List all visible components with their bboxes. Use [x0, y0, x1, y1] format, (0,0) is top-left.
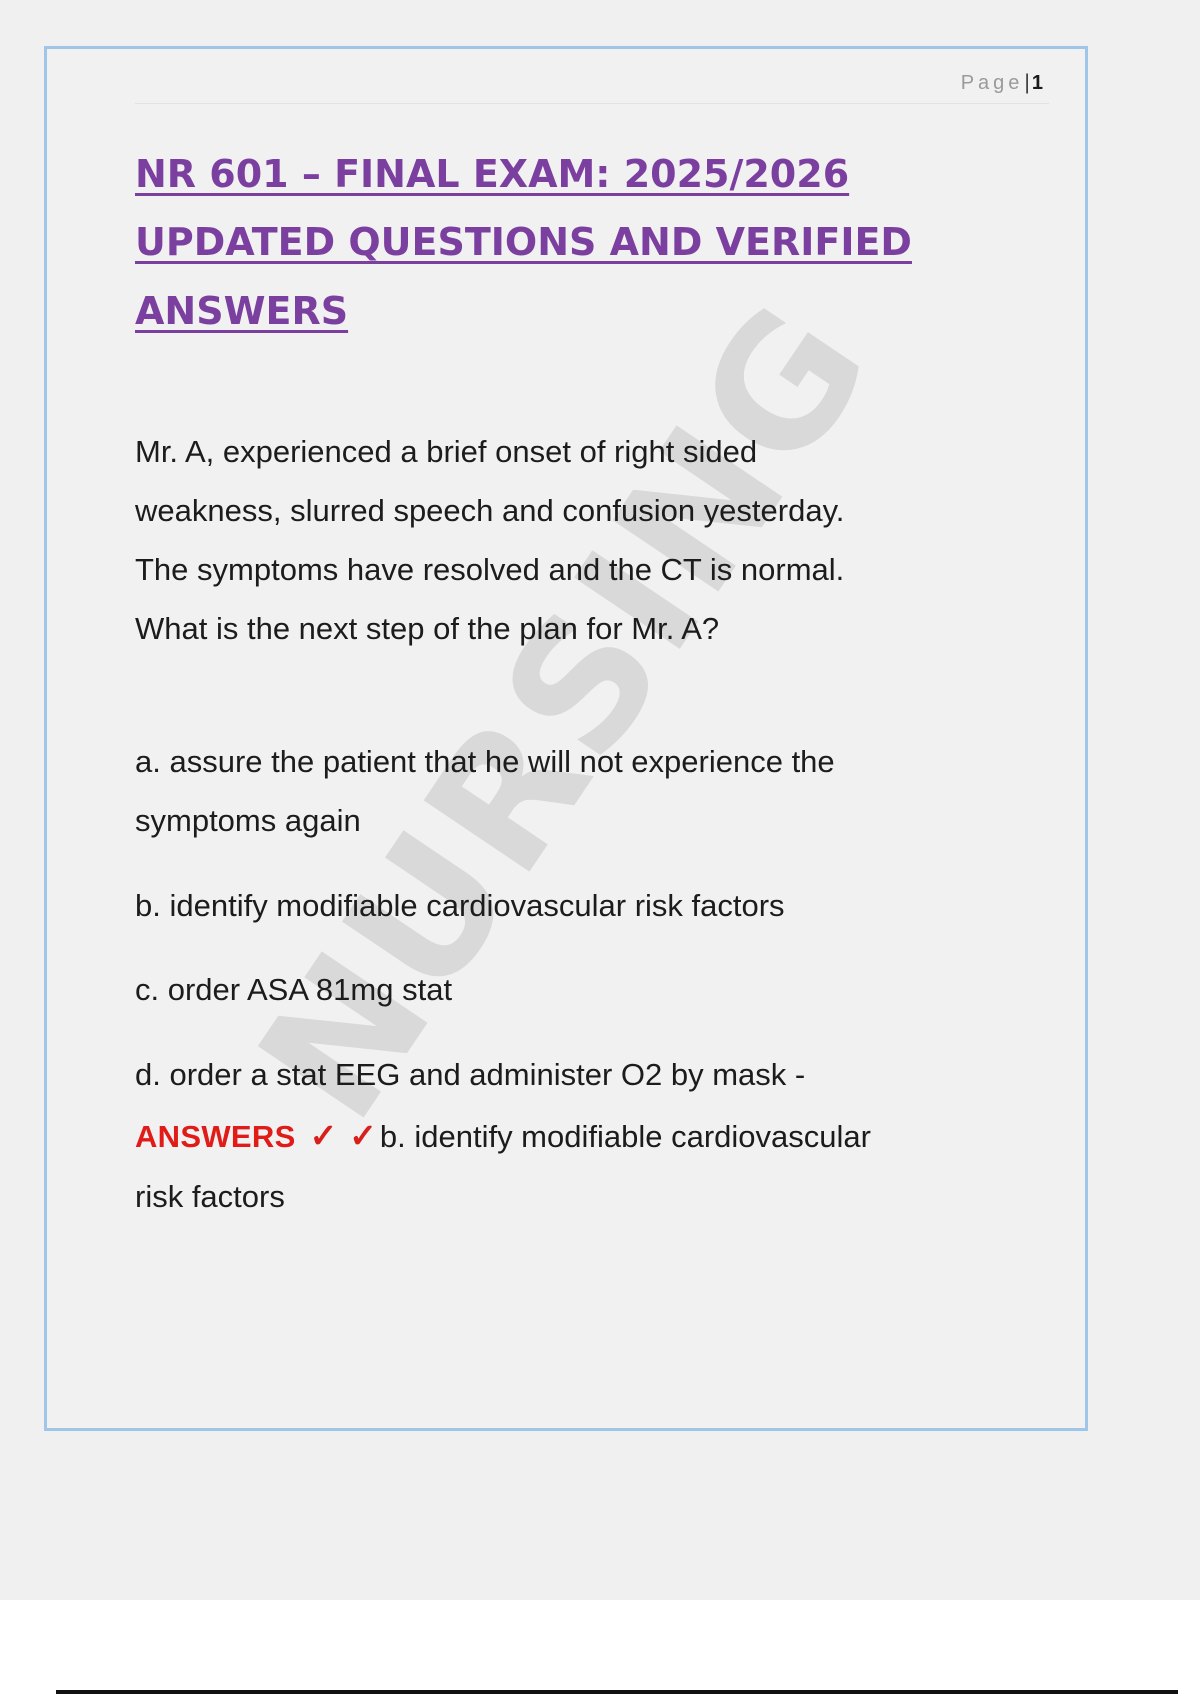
- stem-line-2: weakness, slurred speech and confusion y…: [135, 493, 844, 528]
- answer-choice-c: c. order ASA 81mg stat: [135, 961, 1015, 1020]
- title-line-1: NR 601 – FINAL EXAM: 2025/2026: [135, 152, 849, 196]
- page-content: Page|1 NR 601 – FINAL EXAM: 2025/2026 UP…: [47, 49, 1085, 1227]
- bottom-separator-rule: [56, 1690, 1178, 1694]
- page-number: 1: [1032, 72, 1043, 94]
- below-page-whitespace: [0, 1600, 1200, 1700]
- header-separator: |: [1024, 71, 1029, 94]
- title-line-2: UPDATED QUESTIONS AND VERIFIED: [135, 220, 912, 264]
- title-line-3: ANSWERS: [135, 289, 348, 333]
- choice-a-line-2: symptoms again: [135, 803, 361, 838]
- answer-choice-a: a. assure the patient that he will not e…: [135, 733, 1015, 851]
- question-stem: Mr. A, experienced a brief onset of righ…: [135, 423, 1015, 659]
- choice-b-text: b. identify modifiable cardiovascular ri…: [135, 888, 785, 923]
- check-mark-icon-2: ✓: [346, 1117, 380, 1154]
- correct-answer-line-1: b. identify modifiable cardiovascular: [380, 1119, 871, 1154]
- check-mark-icon-1: ✓: [307, 1117, 341, 1154]
- correct-answer-line-2: risk factors: [135, 1179, 285, 1214]
- answer-choice-b: b. identify modifiable cardiovascular ri…: [135, 877, 1015, 936]
- document-viewer-canvas: NURSING Page|1 NR 601 – FINAL EXAM: 2025…: [0, 0, 1200, 1600]
- document-page: NURSING Page|1 NR 601 – FINAL EXAM: 2025…: [44, 46, 1088, 1431]
- running-header: Page|1: [135, 49, 1049, 95]
- stem-line-1: Mr. A, experienced a brief onset of righ…: [135, 434, 757, 469]
- header-divider: [135, 103, 1049, 104]
- choice-a-line-1: a. assure the patient that he will not e…: [135, 744, 835, 779]
- stem-line-4: What is the next step of the plan for Mr…: [135, 611, 719, 646]
- choice-c-text: c. order ASA 81mg stat: [135, 972, 452, 1007]
- choice-d-text: d. order a stat EEG and administer O2 by…: [135, 1057, 805, 1092]
- page-label: Page: [961, 72, 1024, 94]
- page-title: NR 601 – FINAL EXAM: 2025/2026 UPDATED Q…: [135, 140, 925, 345]
- answers-label: ANSWERS: [135, 1119, 296, 1154]
- answer-choice-d: d. order a stat EEG and administer O2 by…: [135, 1046, 1015, 1226]
- stem-line-3: The symptoms have resolved and the CT is…: [135, 552, 844, 587]
- answer-choice-list: a. assure the patient that he will not e…: [135, 733, 1015, 1227]
